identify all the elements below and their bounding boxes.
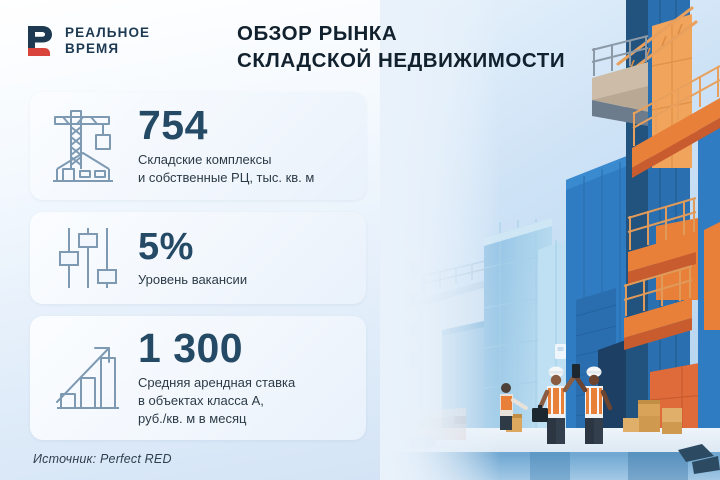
growth-bar-chart-icon xyxy=(42,340,134,416)
stat-card-average-rent: 1 300 Средняя арендная ставка в объектах… xyxy=(30,316,366,440)
page-title: ОБЗОР РЫНКА СКЛАДСКОЙ НЕДВИЖИМОСТИ xyxy=(237,20,667,75)
page-title-line-1: ОБЗОР РЫНКА xyxy=(237,20,667,47)
stat-value: 1 300 xyxy=(138,328,352,369)
infographic-root: РЕАЛЬНОЕ ВРЕМЯ ОБЗОР РЫНКА СКЛАДСКОЙ НЕД… xyxy=(0,0,720,480)
stat-description-line-1: Уровень вакансии xyxy=(138,271,352,289)
stat-description-line-2: и собственные РЦ, тыс. кв. м xyxy=(138,169,352,187)
realnoe-vremya-logo-icon xyxy=(26,24,56,58)
stat-description: Складские комплексы и собственные РЦ, ты… xyxy=(138,151,352,186)
stat-card-body: 754 Складские комплексы и собственные РЦ… xyxy=(134,105,352,186)
source-note: Источник: Perfect RED xyxy=(33,452,172,466)
brand-logo[interactable]: РЕАЛЬНОЕ ВРЕМЯ xyxy=(26,24,150,58)
stat-description-line-1: Складские комплексы xyxy=(138,151,352,169)
stat-description-line-2: в объектах класса А, xyxy=(138,392,352,410)
stat-card-body: 5% Уровень вакансии xyxy=(134,228,352,289)
logo-line-2: ВРЕМЯ xyxy=(65,42,150,57)
stat-value: 754 xyxy=(138,105,352,146)
stat-card-body: 1 300 Средняя арендная ставка в объектах… xyxy=(134,328,352,427)
sliders-icon xyxy=(42,226,134,290)
stat-card-vacancy-rate: 5% Уровень вакансии xyxy=(30,212,366,304)
crane-warehouse-icon xyxy=(42,107,134,185)
stat-description-line-1: Средняя арендная ставка xyxy=(138,374,352,392)
stat-description-line-3: руб./кв. м в месяц xyxy=(138,410,352,428)
stat-card-list: 754 Складские комплексы и собственные РЦ… xyxy=(30,92,366,452)
logo-line-1: РЕАЛЬНОЕ xyxy=(65,26,150,41)
page-title-line-2: СКЛАДСКОЙ НЕДВИЖИМОСТИ xyxy=(237,47,667,74)
stat-description: Средняя арендная ставка в объектах класс… xyxy=(138,374,352,427)
stat-description: Уровень вакансии xyxy=(138,271,352,289)
logo-wordmark: РЕАЛЬНОЕ ВРЕМЯ xyxy=(65,26,150,56)
stat-card-warehouse-complexes: 754 Складские комплексы и собственные РЦ… xyxy=(30,92,366,200)
stat-value: 5% xyxy=(138,228,352,266)
